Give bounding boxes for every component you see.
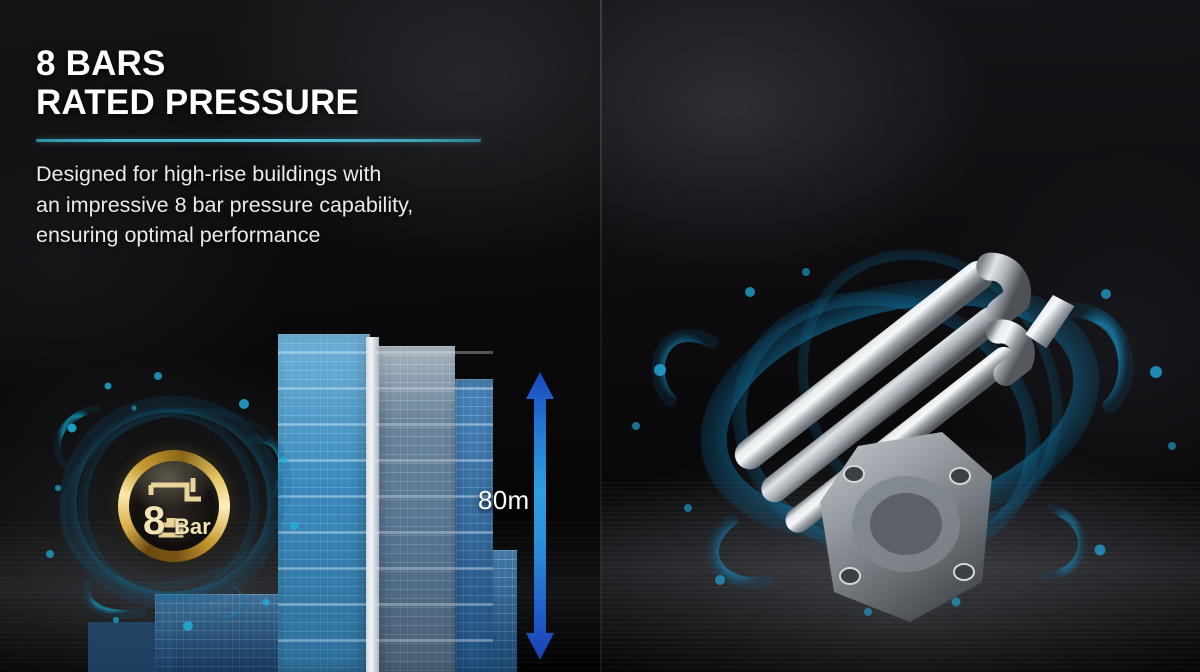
panel-divider [600,0,602,672]
badge-value: 8 [143,501,165,541]
accent-divider-left [36,139,481,142]
headline-line-1: 8 BARS [36,44,506,83]
tower-right-slab [449,379,493,672]
body-line: ensuring optimal performance [36,220,506,251]
feature-panels-stage: 8 Bar 80m 8 BARS [0,0,1200,672]
left-body-text: Designed for high-rise buildings with an… [36,159,506,251]
panel-rated-pressure: 8 Bar 80m 8 BARS [0,0,600,672]
tower-front-face [278,334,370,672]
body-line: Designed for high-rise buildings with [36,159,506,190]
heating-element-illustration [600,250,1200,672]
tower-right-face [379,346,455,672]
pressure-badge: 8 Bar [118,450,230,562]
left-copy-block: 8 BARS RATED PRESSURE Designed for high-… [36,44,506,251]
badge-unit: Bar [174,516,211,538]
body-line: an impressive 8 bar pressure capability, [36,190,506,221]
height-measurement-label: 80m [478,485,529,516]
page-title-left: 8 BARS RATED PRESSURE [36,44,506,122]
headline-line-2: RATED PRESSURE [36,83,506,122]
double-headed-vertical-arrow-icon [525,372,555,660]
mounting-flange [820,432,992,622]
badge-face: 8 Bar [129,461,219,551]
tower-mullion-strip [366,337,379,672]
panel-incoloy-element: INCOLOY 800 ELEMENT Longer service life … [600,0,1200,672]
